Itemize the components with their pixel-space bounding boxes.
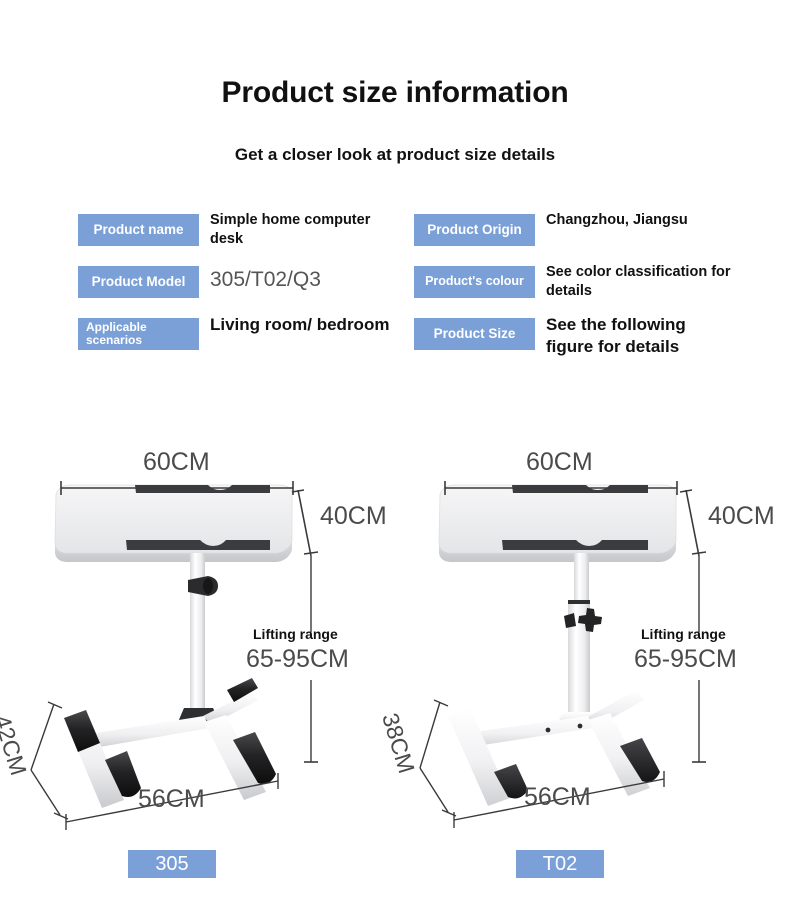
spec-row-applicable-scenarios: Applicable scenarios Living room/ bedroo…: [78, 318, 398, 370]
lift-range-value-305: 65-95CM: [246, 645, 349, 674]
lift-range-label-305: Lifting range: [253, 626, 338, 642]
dim-base-width-t02: 56CM: [524, 783, 591, 812]
lift-range-value-t02: 65-95CM: [634, 645, 737, 674]
spec-key-product-name: Product name: [78, 214, 199, 246]
lift-range-label-t02: Lifting range: [641, 626, 726, 642]
desk-stopper-front: [502, 540, 648, 550]
desk-illustration-305: [8, 440, 398, 840]
product-diagram-305: 60CM 40CM Lifting range 65-95CM 42CM 56C…: [8, 440, 398, 840]
clamp-knob: [203, 578, 213, 594]
bolt-right: [578, 724, 583, 729]
spec-row-product-name: Product name Simple home computer desk: [78, 214, 398, 266]
spec-value-applicable-scenarios: Living room/ bedroom: [210, 314, 400, 336]
spec-value-product-origin: Changzhou, Jiangsu: [546, 211, 736, 230]
base-leg-left: [448, 708, 510, 806]
spec-value-product-name: Simple home computer desk: [210, 211, 400, 248]
desk-stopper-rear: [135, 485, 270, 493]
spec-row-product-colour: Product's colour See color classificatio…: [414, 266, 744, 318]
spec-table-left-column: Product name Simple home computer desk P…: [78, 214, 398, 370]
desk-stopper-rear: [512, 485, 648, 493]
spec-row-product-model: Product Model 305/T02/Q3: [78, 266, 398, 318]
desk-stopper-front: [126, 540, 270, 550]
spec-key-product-model: Product Model: [78, 266, 199, 298]
spec-row-product-size: Product Size See the following figure fo…: [414, 318, 744, 370]
spec-row-product-origin: Product Origin Changzhou, Jiangsu: [414, 214, 744, 266]
spec-key-product-colour: Product's colour: [414, 266, 535, 298]
column-joint: [568, 600, 590, 604]
model-badge-305: 305: [128, 850, 216, 878]
spec-value-product-colour: See color classification for details: [546, 263, 736, 300]
spec-table-right-column: Product Origin Changzhou, Jiangsu Produc…: [414, 214, 744, 370]
spec-key-product-origin: Product Origin: [414, 214, 535, 246]
dim-base-width-305: 56CM: [138, 785, 205, 814]
desk-illustration-t02: [398, 440, 788, 840]
dim-width-305: 60CM: [143, 448, 210, 477]
bolt-left: [546, 728, 551, 733]
product-size-page: Product size information Get a closer lo…: [0, 0, 790, 919]
spec-key-product-size: Product Size: [414, 318, 535, 350]
dim-depth-305: 40CM: [320, 502, 387, 531]
desk-column-upper: [574, 553, 589, 605]
page-subtitle: Get a closer look at product size detail…: [0, 145, 790, 165]
product-diagram-t02: 60CM 40CM Lifting range 65-95CM 38CM 56C…: [398, 440, 788, 840]
spec-key-applicable-scenarios: Applicable scenarios: [78, 318, 199, 350]
dim-width-t02: 60CM: [526, 448, 593, 477]
clamp-lever: [564, 613, 576, 628]
dim-depth-t02: 40CM: [708, 502, 775, 531]
page-title: Product size information: [0, 76, 790, 110]
spec-value-product-model: 305/T02/Q3: [210, 267, 400, 294]
model-badge-t02: T02: [516, 850, 604, 878]
spec-value-product-size: See the following figure for details: [546, 314, 736, 358]
